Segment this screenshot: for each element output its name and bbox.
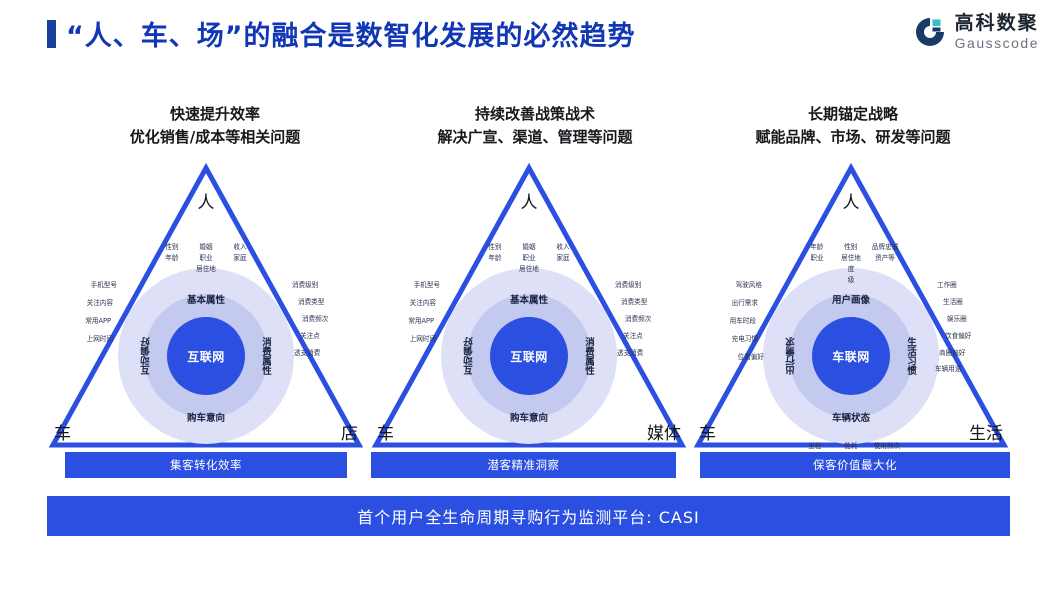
quadrant-1-left-label: 互动偏好	[140, 337, 154, 375]
attr-item: 车辆用途	[935, 364, 971, 375]
attr-item: 性别	[482, 242, 508, 253]
center-circle-1-label: 互联网	[187, 348, 225, 365]
attr-item: 驾驶风格	[730, 280, 762, 291]
attr-item: 用车时段	[730, 316, 756, 327]
gausscode-logo-icon	[913, 15, 947, 49]
ring-diagram-3: 车联网 用户画像 车辆状态 出行需求 生活习惯 年龄性别品牌忠诚职业居住地资产等…	[763, 268, 939, 444]
triangle-3-corner-left-label: 车	[699, 419, 716, 444]
page-title: “人、车、场”的融合是数智化发展的必然趋势	[66, 14, 636, 53]
outcome-bar-1-label: 集客转化效率	[170, 457, 242, 473]
attr-item: 充电习惯	[730, 334, 758, 345]
platform-banner: 首个用户全生命周期寻购行为监测平台: CASI	[47, 496, 1010, 536]
attr-item: 饮食偏好	[945, 331, 971, 342]
center-circle-3-label: 车联网	[832, 348, 870, 365]
attr-item: 婚姻	[193, 242, 219, 253]
attr-row: 度	[763, 264, 939, 275]
column-heading-1-line2: 优化销售/成本等相关问题	[35, 126, 395, 149]
column-heading-1: 快速提升效率 优化销售/成本等相关问题	[35, 103, 395, 148]
quadrant-2-right-label: 消费属性	[581, 337, 595, 375]
attr-item: 职业	[193, 253, 219, 264]
attr-item: 能耗	[838, 441, 864, 452]
quadrant-3-top-label: 用户画像	[763, 292, 939, 306]
quadrant-3-right-label: 生活习惯	[903, 337, 917, 375]
outcome-bar-3-label: 保客价值最大化	[813, 457, 897, 473]
center-circle-1: 互联网	[167, 317, 245, 395]
attr-item: 性别	[159, 242, 185, 253]
outcome-bar-2: 潜客精准洞察	[371, 452, 676, 478]
attr-item: 居住地	[516, 264, 542, 275]
attr-item: 透支消费	[617, 348, 651, 359]
attrs-left-2: 手机型号关注内容常用APP上网时间	[408, 280, 436, 352]
triangle-2-corner-left-label: 车	[377, 419, 394, 444]
attr-item: 职业	[516, 253, 542, 264]
ring-diagram-2: 互联网 基本属性 购车意向 互动偏好 消费属性 性别婚姻收入年龄职业家庭居住地 …	[441, 268, 617, 444]
attr-row: 性别婚姻收入	[441, 242, 617, 253]
triangle-panel-1: 人 车 店 互联网 基本属性 购车意向 互动偏好 消费属性 性别婚姻收入年龄职业…	[47, 160, 365, 450]
outcome-bar-1: 集客转化效率	[65, 452, 347, 478]
attr-item: 里程	[802, 441, 828, 452]
attrs-top-2: 性别婚姻收入年龄职业家庭居住地	[441, 242, 617, 275]
triangle-1-corner-left-label: 车	[54, 419, 71, 444]
attr-row: 级	[763, 275, 939, 286]
quadrant-3-left-label: 出行需求	[785, 337, 799, 375]
triangle-2-apex-label: 人	[370, 188, 688, 213]
attr-item: 常用APP	[408, 316, 434, 327]
platform-banner-label: 首个用户全生命周期寻购行为监测平台: CASI	[357, 504, 699, 528]
quadrant-1-bottom-label: 购车意向	[118, 410, 294, 424]
attr-row: 里程能耗使用频次	[763, 441, 939, 452]
attr-item: 居住地	[838, 253, 864, 264]
attr-item: 级	[838, 275, 864, 286]
center-circle-2: 互联网	[490, 317, 568, 395]
quadrant-1-top-label: 基本属性	[118, 292, 294, 306]
attr-item: 上网时间	[408, 334, 436, 345]
attr-row: 居住地	[118, 264, 294, 275]
ring-diagram-1: 互联网 基本属性 购车意向 互动偏好 消费属性 性别婚姻收入年龄职业家庭居住地 …	[118, 268, 294, 444]
attr-item: 常用APP	[85, 316, 111, 327]
attr-item: 收入	[550, 242, 576, 253]
attr-item: 年龄	[482, 253, 508, 264]
attr-item: 使用频次	[874, 441, 900, 452]
quadrant-2-left-label: 互动偏好	[463, 337, 477, 375]
attr-item: 消费级别	[292, 280, 328, 291]
column-heading-1-line1: 快速提升效率	[35, 103, 395, 126]
triangle-panel-2: 人 车 媒体 互联网 基本属性 购车意向 互动偏好 消费属性 性别婚姻收入年龄职…	[370, 160, 688, 450]
column-heading-3-line2: 赋能品牌、市场、研发等问题	[673, 126, 1033, 149]
attr-item: 收入	[227, 242, 253, 253]
triangle-3-apex-label: 人	[692, 188, 1010, 213]
attr-item: 关注点	[300, 331, 328, 342]
column-heading-3-line1: 长期锚定战略	[673, 103, 1033, 126]
attr-item: 消费级别	[615, 280, 651, 291]
attr-item: 关注内容	[85, 298, 113, 309]
attr-item: 家庭	[227, 253, 253, 264]
attr-row: 年龄性别品牌忠诚	[763, 242, 939, 253]
attrs-right-3: 工作圈生活圈娱乐圈饮食偏好商圈偏好车辆用途	[941, 280, 971, 381]
attr-item: 职业	[804, 253, 830, 264]
column-heading-2: 持续改善战策战术 解决广宣、渠道、管理等问题	[355, 103, 715, 148]
attr-item: 关注点	[623, 331, 651, 342]
attr-row: 职业居住地资产等	[763, 253, 939, 264]
column-heading-2-line1: 持续改善战策战术	[355, 103, 715, 126]
attr-item: 商圈偏好	[939, 348, 971, 359]
attr-item: 家庭	[550, 253, 576, 264]
center-circle-2-label: 互联网	[510, 348, 548, 365]
attr-item: 消费类型	[298, 297, 328, 308]
attr-item: 消费频次	[625, 314, 651, 325]
attr-item: 手机型号	[408, 280, 440, 291]
quadrant-1-right-label: 消费属性	[258, 337, 272, 375]
triangle-1-apex-label: 人	[47, 188, 365, 213]
attr-item: 手机型号	[85, 280, 117, 291]
attr-row: 性别婚姻收入	[118, 242, 294, 253]
attr-item: 年龄	[804, 242, 830, 253]
attr-item: 居住地	[193, 264, 219, 275]
triangle-3-corner-right-label: 生活	[969, 419, 1003, 444]
attr-item: 娱乐圈	[947, 314, 971, 325]
quadrant-3-bottom-label: 车辆状态	[763, 410, 939, 424]
attrs-right-2: 消费级别消费类型消费频次关注点透支消费	[619, 280, 651, 364]
attr-row: 年龄职业家庭	[441, 253, 617, 264]
attr-item: 上网时间	[85, 334, 113, 345]
triangle-1-corner-right-label: 店	[341, 419, 358, 444]
triangle-panel-3: 人 车 生活 车联网 用户画像 车辆状态 出行需求 生活习惯 年龄性别品牌忠诚职…	[692, 160, 1010, 450]
quadrant-2-bottom-label: 购车意向	[441, 410, 617, 424]
attr-item: 度	[838, 264, 864, 275]
attr-item: 消费频次	[302, 314, 328, 325]
attrs-left-1: 手机型号关注内容常用APP上网时间	[85, 280, 113, 352]
attr-item: 关注内容	[408, 298, 436, 309]
quadrant-2-top-label: 基本属性	[441, 292, 617, 306]
logo-text-cn: 高科数聚	[955, 14, 1039, 33]
attr-item: 工作圈	[937, 280, 971, 291]
attr-item: 年龄	[159, 253, 185, 264]
attrs-top-3: 年龄性别品牌忠诚职业居住地资产等度级	[763, 242, 939, 286]
outcome-bar-2-label: 潜客精准洞察	[488, 457, 560, 473]
attr-item: 透支消费	[294, 348, 328, 359]
attr-item: 出行需求	[730, 298, 758, 309]
outcome-bar-3: 保客价值最大化	[700, 452, 1010, 478]
column-heading-2-line2: 解决广宣、渠道、管理等问题	[355, 126, 715, 149]
brand-logo: 高科数聚 Gausscode	[913, 14, 1039, 50]
attr-row: 年龄职业家庭	[118, 253, 294, 264]
attr-item: 资产等	[872, 253, 898, 264]
attr-item: 品牌忠诚	[872, 242, 898, 253]
attr-item: 生活圈	[943, 297, 971, 308]
attrs-right-1: 消费级别消费类型消费频次关注点透支消费	[296, 280, 328, 364]
attrs-left-3: 驾驶风格出行需求用车时段充电习惯位置偏好	[730, 280, 758, 369]
attr-item: 位置偏好	[730, 352, 764, 363]
logo-text-en: Gausscode	[955, 36, 1039, 50]
center-circle-3: 车联网	[812, 317, 890, 395]
attrs-top-1: 性别婚姻收入年龄职业家庭居住地	[118, 242, 294, 275]
attr-item: 婚姻	[516, 242, 542, 253]
attr-row: 居住地	[441, 264, 617, 275]
title-accent-bar	[47, 20, 56, 48]
attr-item: 消费类型	[621, 297, 651, 308]
triangle-2-corner-right-label: 媒体	[647, 419, 681, 444]
page-header: “人、车、场”的融合是数智化发展的必然趋势 高科数聚 Gausscode	[0, 0, 1057, 68]
column-heading-3: 长期锚定战略 赋能品牌、市场、研发等问题	[673, 103, 1033, 148]
attr-item: 性别	[838, 242, 864, 253]
